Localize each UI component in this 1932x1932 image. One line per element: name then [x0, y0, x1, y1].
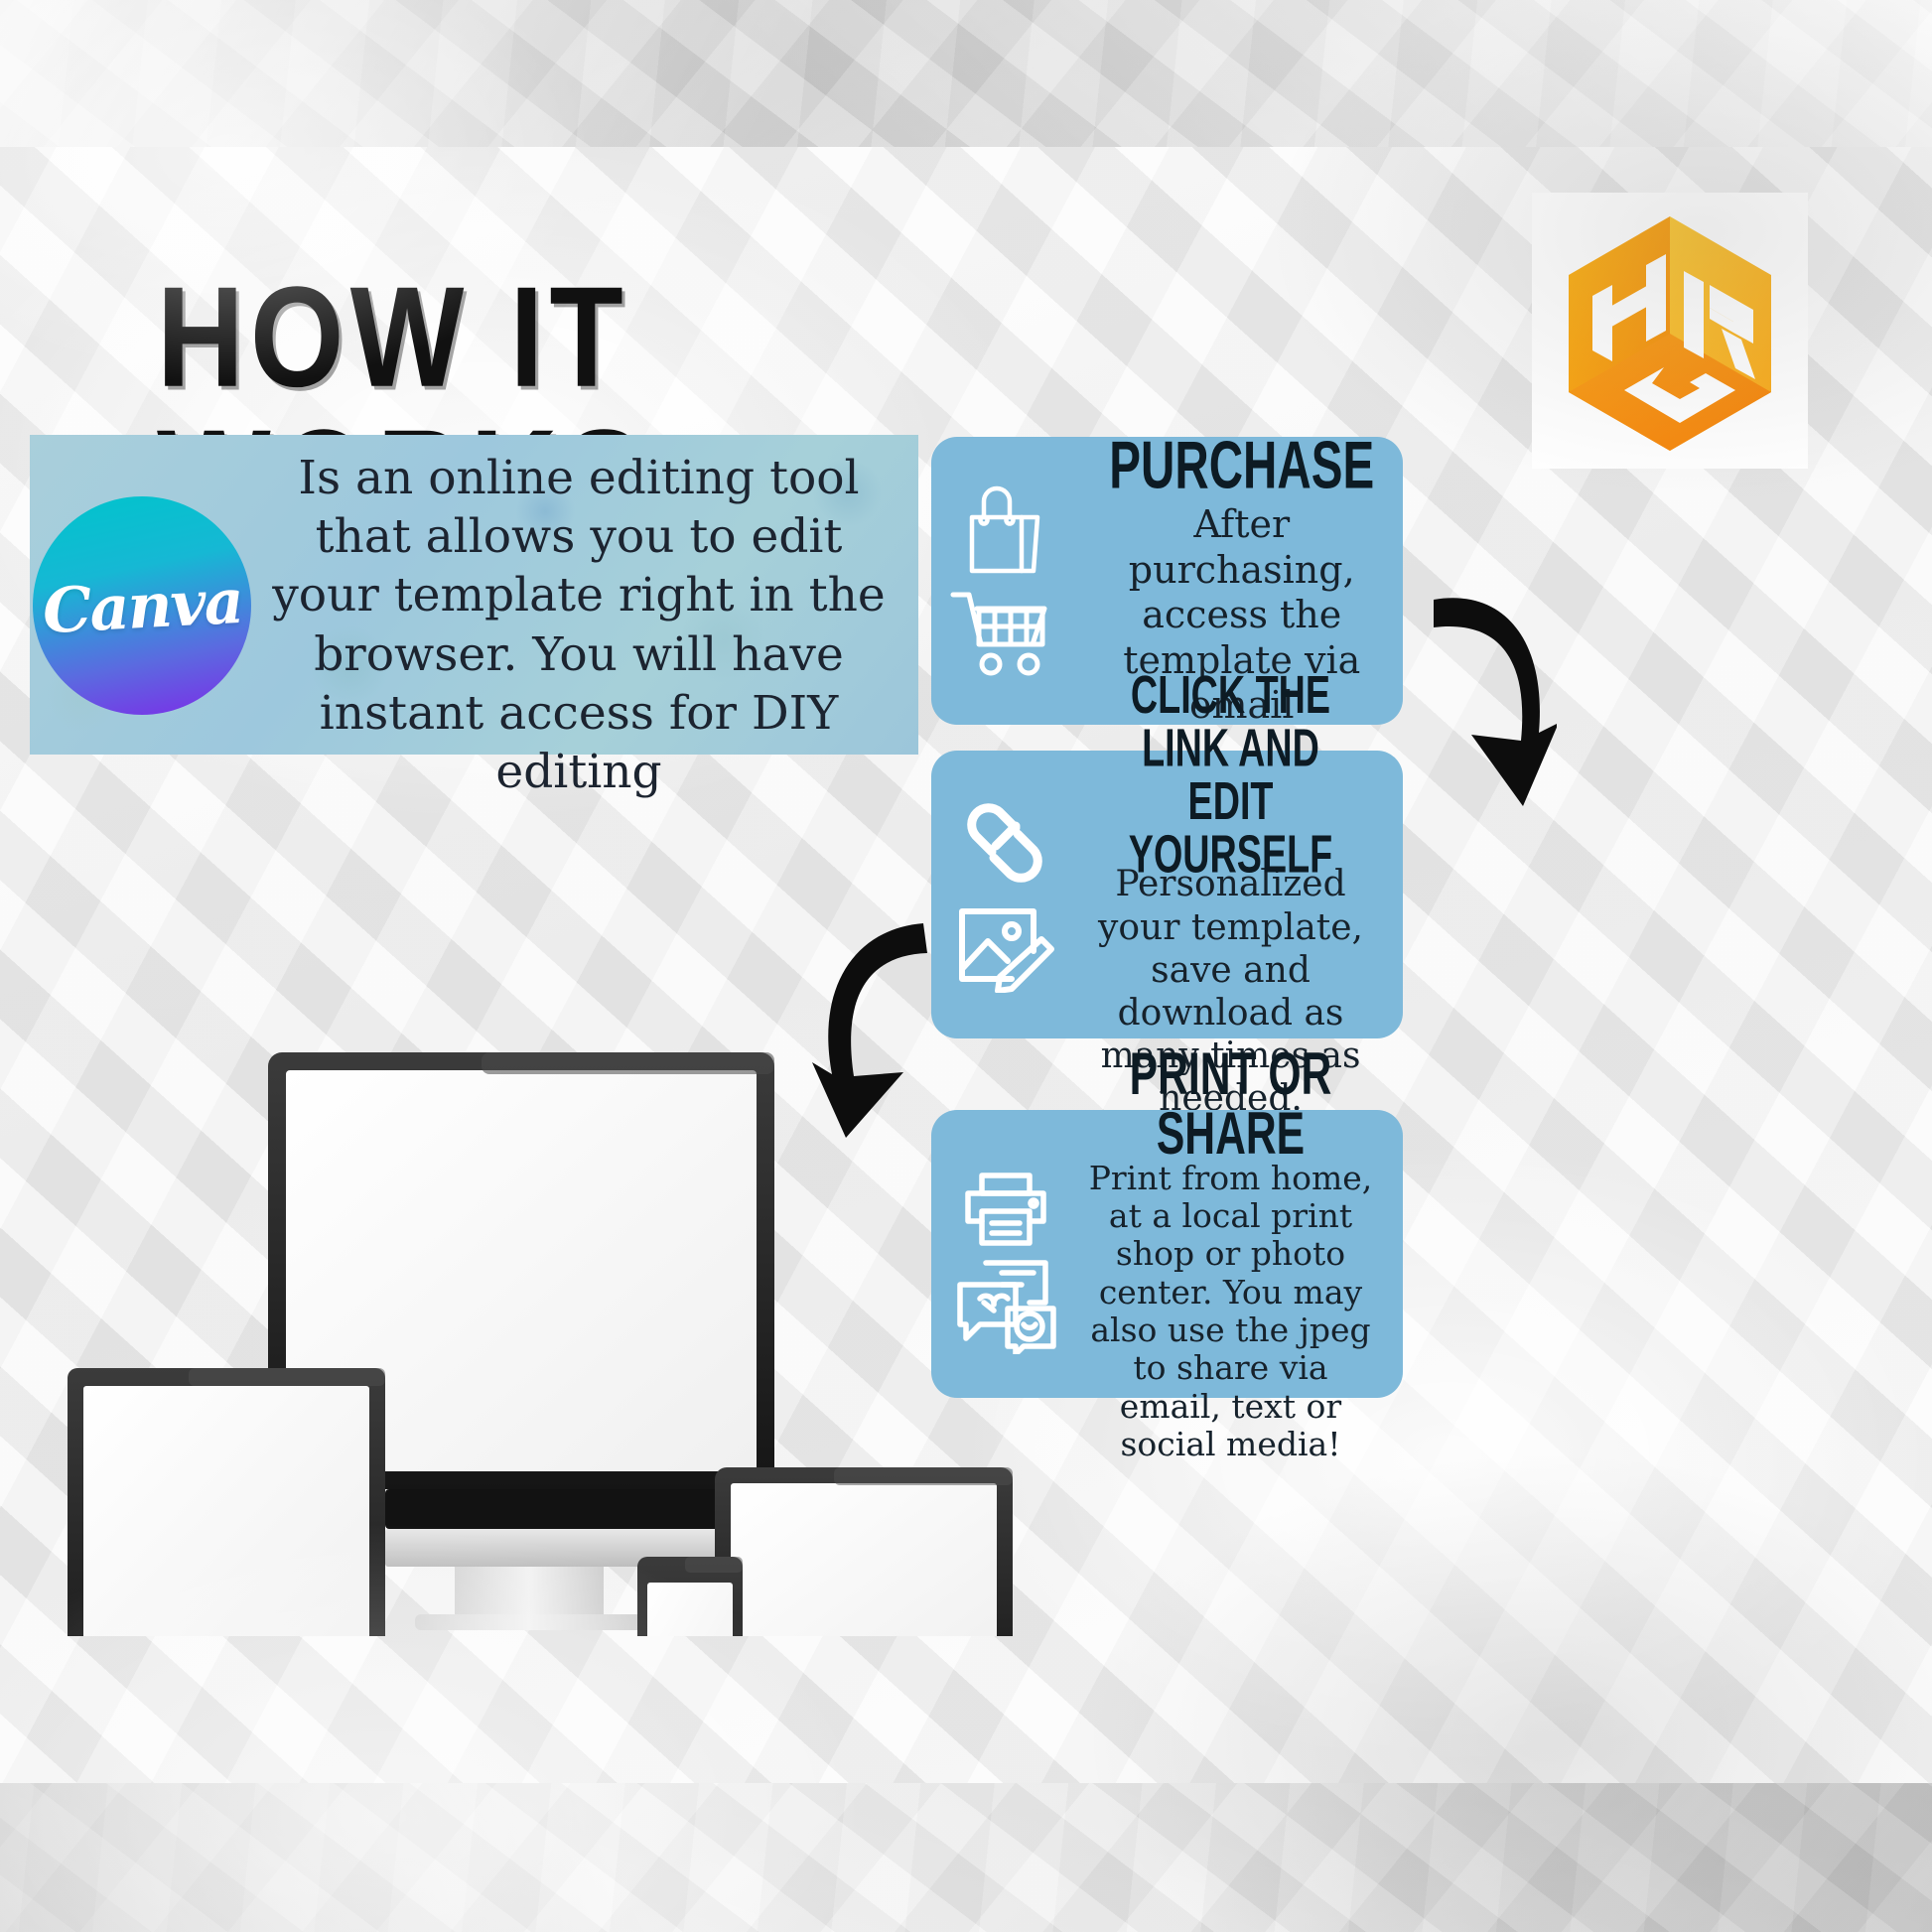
print-share-text-group: PRINT OR SHARE Print from home, at a loc…	[1080, 1044, 1403, 1463]
step-card-print-share[interactable]: PRINT OR SHARE Print from home, at a loc…	[931, 1110, 1403, 1398]
arrow-purchase-to-click	[1428, 584, 1557, 822]
step-card-click-edit[interactable]: CLICK THE LINK AND EDIT YOURSELF Persona…	[931, 751, 1403, 1038]
infographic-page: HOW IT WORKS	[0, 0, 1932, 1932]
laptop-device	[36, 1368, 417, 1636]
share-chat-icon	[950, 1255, 1061, 1354]
purchase-heading: PURCHASE	[1109, 433, 1374, 499]
print-share-heading: PRINT OR SHARE	[1107, 1044, 1353, 1165]
arrow-click-to-print	[812, 913, 931, 1142]
link-chain-icon	[952, 796, 1059, 892]
click-edit-heading: CLICK THE LINK AND EDIT YOURSELF	[1107, 668, 1353, 880]
hrg-cube-logo	[1532, 193, 1808, 469]
tablet-device	[715, 1467, 1013, 1636]
purchase-icon-group	[931, 483, 1080, 678]
shopping-cart-icon	[947, 585, 1064, 678]
click-edit-icon-group	[931, 796, 1080, 993]
canva-logo-text: Canva	[41, 564, 243, 646]
smartphone-device	[637, 1557, 743, 1636]
canva-logo-circle: Canva	[33, 496, 251, 715]
print-share-body: Print from home, at a local print shop o…	[1080, 1160, 1381, 1463]
image-edit-pencil-icon	[950, 897, 1061, 993]
print-share-icon-group	[931, 1154, 1080, 1354]
printer-icon	[952, 1154, 1059, 1249]
canva-description-text: Is an online editing tool that allows yo…	[256, 449, 901, 801]
shopping-bag-icon	[952, 483, 1059, 579]
